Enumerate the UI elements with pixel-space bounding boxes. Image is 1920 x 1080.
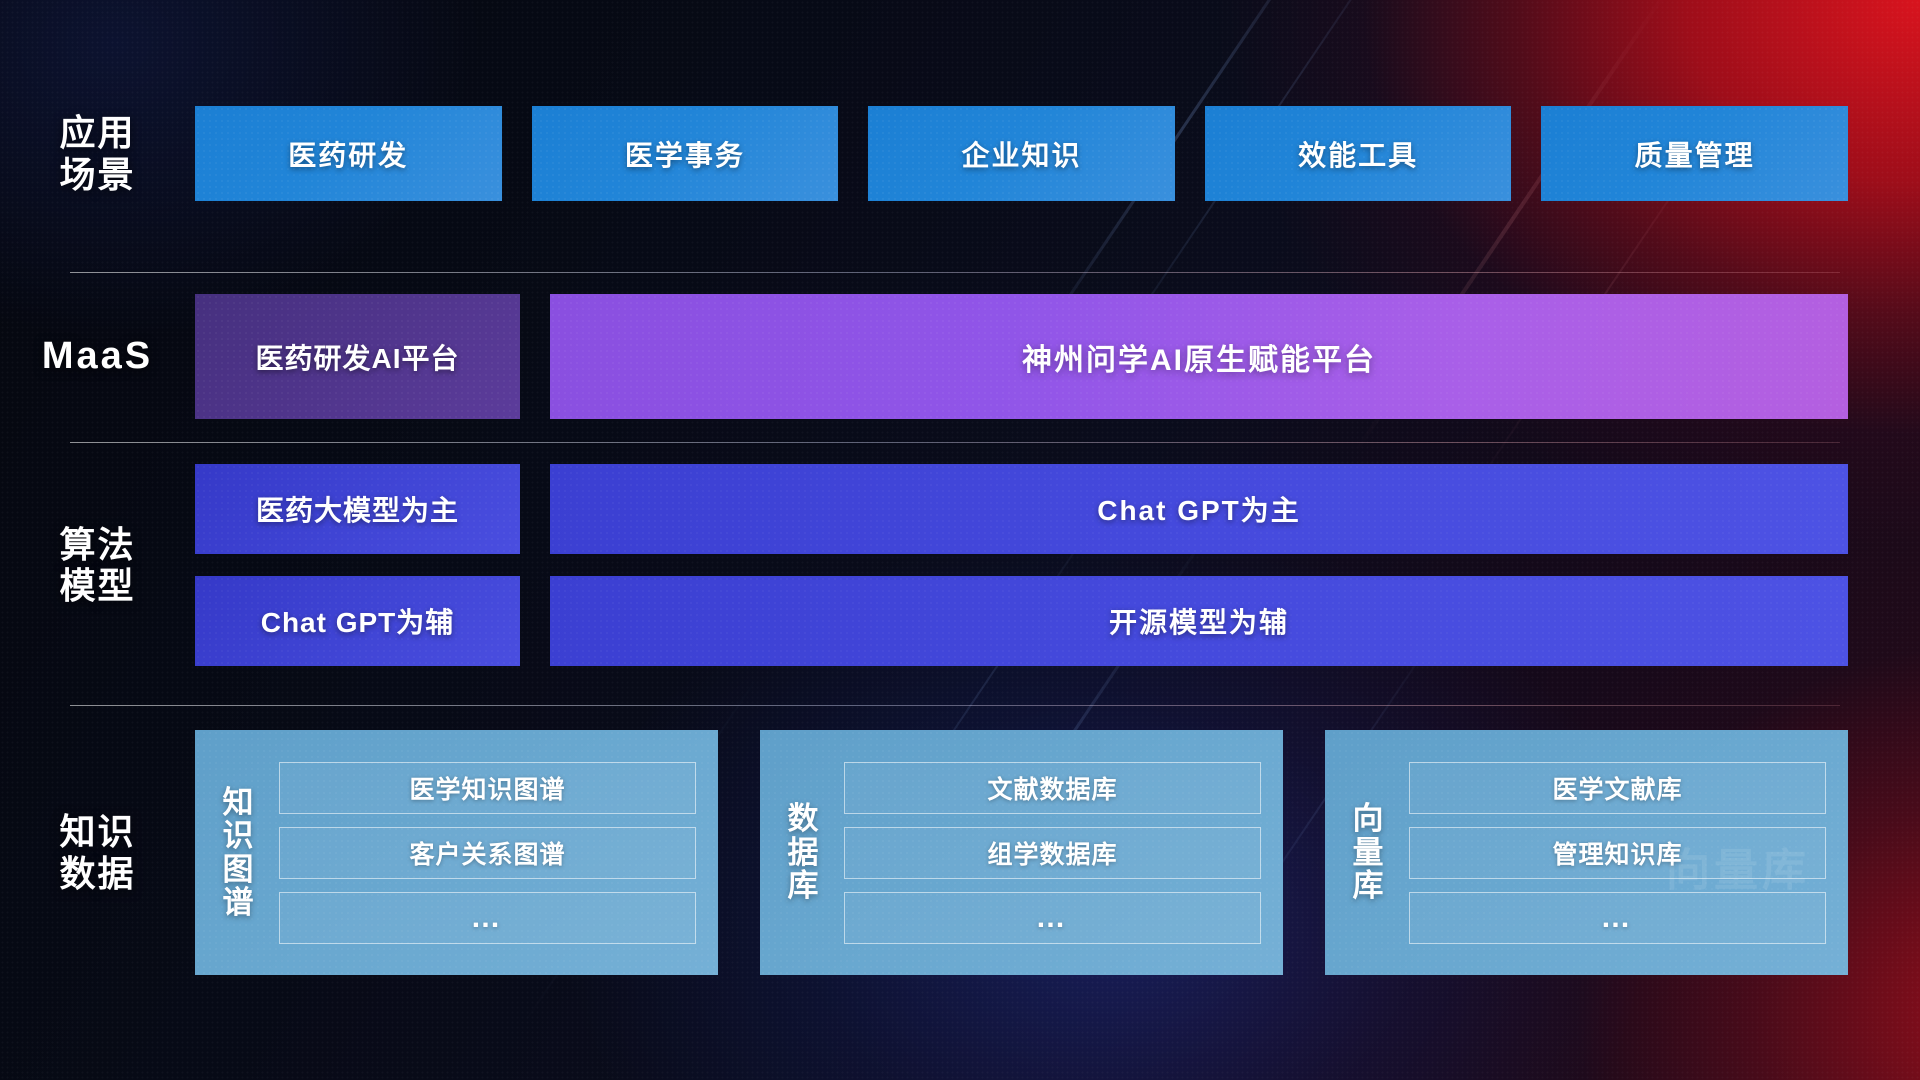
app-box-label: 效能工具 [1298, 134, 1418, 174]
row-label-knowledge: 知识 数据 [0, 811, 195, 893]
knowledge-item-medical-knowledge-graph[interactable]: 医学知识图谱 [279, 762, 696, 814]
knowledge-item-more[interactable]: … [279, 892, 696, 944]
algorithm-box-list: 医药大模型为主 Chat GPT为主 Chat GPT为辅 开源模型为辅 [195, 464, 1920, 666]
algo-box-chatgpt-primary[interactable]: Chat GPT为主 [550, 464, 1848, 554]
maas-box-medicine-ai-platform[interactable]: 医药研发AI平台 [195, 294, 520, 419]
maas-box-label: 医药研发AI平台 [255, 337, 459, 377]
knowledge-item-customer-relation-graph[interactable]: 客户关系图谱 [279, 827, 696, 879]
maas-box-label: 神州问学AI原生赋能平台 [1022, 335, 1376, 379]
knowledge-group-list: 知识图谱 医学知识图谱 客户关系图谱 … 数据库 文献数据库 组学数据库 … 向… [195, 730, 1920, 975]
algo-box-medicine-llm-primary[interactable]: 医药大模型为主 [195, 464, 520, 554]
row-maas: MaaS 医药研发AI平台 神州问学AI原生赋能平台 [0, 294, 1920, 419]
knowledge-item-label: … [1036, 901, 1070, 935]
knowledge-item-medical-literature-store[interactable]: 医学文献库 [1409, 762, 1826, 814]
algo-box-label: 医药大模型为主 [256, 489, 459, 529]
algorithm-line-secondary: Chat GPT为辅 开源模型为辅 [195, 576, 1848, 666]
knowledge-item-omics-database[interactable]: 组学数据库 [844, 827, 1261, 879]
knowledge-item-label: 组学数据库 [987, 835, 1117, 871]
knowledge-group-database: 数据库 文献数据库 组学数据库 … [760, 730, 1283, 975]
knowledge-item-label: 客户关系图谱 [409, 835, 565, 871]
knowledge-item-literature-database[interactable]: 文献数据库 [844, 762, 1261, 814]
row-label-algorithm: 算法 模型 [0, 524, 195, 606]
algo-box-label: Chat GPT为主 [1097, 489, 1301, 529]
knowledge-item-label: … [471, 901, 505, 935]
application-box-list: 医药研发 医学事务 企业知识 效能工具 质量管理 [195, 106, 1920, 201]
knowledge-item-label: … [1601, 901, 1635, 935]
row-algorithm: 算法 模型 医药大模型为主 Chat GPT为主 Chat GPT为辅 开源模型… [0, 464, 1920, 666]
knowledge-group-vertical-label: 知识图谱 [211, 786, 265, 920]
knowledge-item-label: 医学文献库 [1552, 770, 1682, 806]
algo-box-chatgpt-secondary[interactable]: Chat GPT为辅 [195, 576, 520, 666]
row-label-maas: MaaS [0, 335, 195, 378]
architecture-diagram: 应用 场景 医药研发 医学事务 企业知识 效能工具 质量管理 MaaS 医药研发… [0, 0, 1920, 1080]
knowledge-group-knowledge-graph: 知识图谱 医学知识图谱 客户关系图谱 … [195, 730, 718, 975]
app-box-label: 质量管理 [1635, 134, 1755, 174]
knowledge-item-label: 管理知识库 [1552, 835, 1682, 871]
app-box-quality-management[interactable]: 质量管理 [1541, 106, 1848, 201]
divider-application-maas [70, 272, 1840, 273]
app-box-label: 医药研发 [288, 134, 408, 174]
knowledge-item-management-knowledge-store[interactable]: 管理知识库 [1409, 827, 1826, 879]
row-label-application: 应用 场景 [0, 112, 195, 194]
divider-algorithm-knowledge [70, 705, 1840, 706]
knowledge-group-vector-store: 向量库 向量库 医学文献库 管理知识库 … [1325, 730, 1848, 975]
knowledge-item-list: 医学知识图谱 客户关系图谱 … [279, 762, 696, 944]
algo-box-label: 开源模型为辅 [1109, 601, 1289, 641]
algo-box-opensource-secondary[interactable]: 开源模型为辅 [550, 576, 1848, 666]
app-box-label: 医学事务 [625, 134, 745, 174]
knowledge-item-list: 文献数据库 组学数据库 … [844, 762, 1261, 944]
knowledge-group-vertical-label: 数据库 [776, 802, 830, 902]
maas-box-shenzhou-platform[interactable]: 神州问学AI原生赋能平台 [550, 294, 1848, 419]
app-box-label: 企业知识 [961, 134, 1081, 174]
knowledge-item-list: 医学文献库 管理知识库 … [1409, 762, 1826, 944]
row-knowledge: 知识 数据 知识图谱 医学知识图谱 客户关系图谱 … 数据库 文献数据库 组学数… [0, 730, 1920, 975]
row-application: 应用 场景 医药研发 医学事务 企业知识 效能工具 质量管理 [0, 106, 1920, 201]
algorithm-line-primary: 医药大模型为主 Chat GPT为主 [195, 464, 1848, 554]
app-box-enterprise-knowledge[interactable]: 企业知识 [868, 106, 1175, 201]
knowledge-item-more[interactable]: … [1409, 892, 1826, 944]
knowledge-item-more[interactable]: … [844, 892, 1261, 944]
knowledge-item-label: 文献数据库 [987, 770, 1117, 806]
app-box-medicine-rd[interactable]: 医药研发 [195, 106, 502, 201]
knowledge-group-vertical-label: 向量库 [1341, 802, 1395, 902]
maas-box-list: 医药研发AI平台 神州问学AI原生赋能平台 [195, 294, 1920, 419]
divider-maas-algorithm [70, 442, 1840, 443]
app-box-efficiency-tools[interactable]: 效能工具 [1205, 106, 1512, 201]
app-box-medical-affairs[interactable]: 医学事务 [532, 106, 839, 201]
knowledge-item-label: 医学知识图谱 [409, 770, 565, 806]
algo-box-label: Chat GPT为辅 [261, 601, 455, 641]
